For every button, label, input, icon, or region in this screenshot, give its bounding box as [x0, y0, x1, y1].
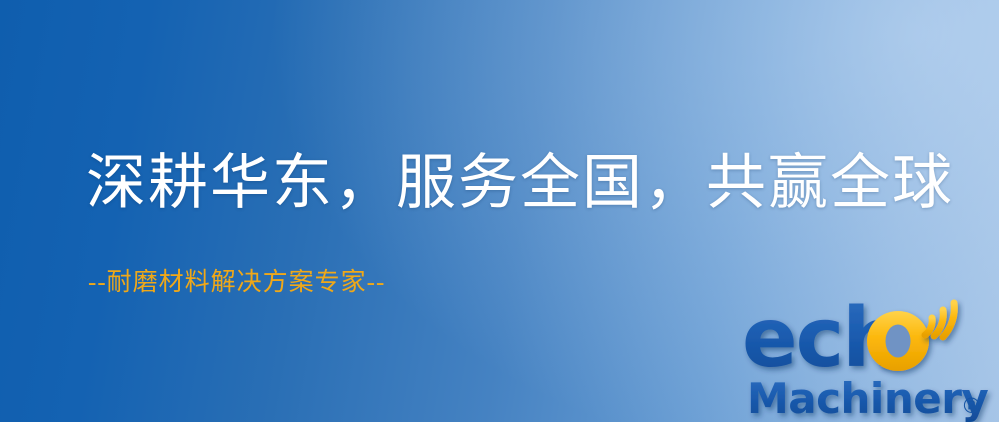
echo-machinery-logo[interactable]: ech Machinery ® echo Machinery: [742, 292, 999, 422]
logo-letter-o: [867, 311, 929, 371]
svg-text:Machinery: Machinery: [747, 374, 988, 422]
banner-subtitle: --耐磨材料解决方案专家--: [88, 268, 385, 298]
signal-waves-icon: [925, 303, 954, 337]
svg-text:®: ®: [961, 394, 982, 418]
banner-headline: 深耕华东，服务全国，共赢全球: [86, 152, 954, 215]
logo-tagline: Machinery ®: [747, 374, 988, 422]
promo-banner: 深耕华东，服务全国，共赢全球 --耐磨材料解决方案专家--: [0, 0, 999, 422]
